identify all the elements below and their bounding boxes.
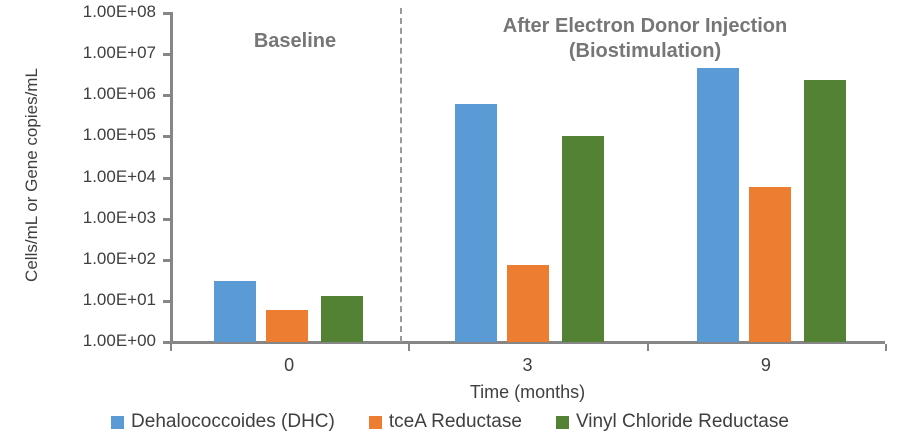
bar-vinyl-chloride-reductase-month-9	[804, 80, 846, 342]
x-axis-tick-mark	[647, 344, 649, 351]
y-axis-tick-mark	[163, 177, 171, 180]
x-axis-tick-mark	[885, 344, 887, 351]
y-axis-tick-mark	[163, 135, 171, 138]
bar-tcea-reductase-month-3	[507, 265, 549, 342]
legend-item[interactable]: Vinyl Chloride Reductase	[556, 411, 789, 433]
bar-dehalococcoides-dhc-month-3	[455, 104, 497, 342]
y-axis-tick-mark	[163, 218, 171, 221]
legend-swatch-icon	[369, 416, 382, 429]
x-axis-tick-label: 9	[706, 355, 826, 376]
chart-legend: Dehalococcoides (DHC)tceA ReductaseVinyl…	[0, 411, 900, 433]
bar-tcea-reductase-month-9	[749, 187, 791, 342]
legend-label: tceA Reductase	[389, 411, 522, 433]
x-axis-title: Time (months)	[170, 382, 885, 403]
legend-swatch-icon	[556, 416, 569, 429]
bar-dehalococcoides-dhc-month-0	[214, 281, 256, 342]
annotation-biostimulation-line1: After Electron Donor Injection	[420, 14, 870, 39]
y-axis-tick-mark	[163, 259, 171, 262]
bar-dehalococcoides-dhc-month-9	[697, 68, 739, 342]
y-axis-tick-mark	[163, 300, 171, 303]
x-axis-tick-label: 0	[229, 355, 349, 376]
legend-label: Vinyl Chloride Reductase	[576, 411, 789, 433]
annotation-biostimulation-line2: (Biostimulation)	[420, 39, 870, 64]
annotation-biostimulation: After Electron Donor Injection (Biostimu…	[420, 14, 870, 64]
y-axis-tick-mark	[163, 12, 171, 15]
y-axis-tick-mark	[163, 94, 171, 97]
legend-swatch-icon	[111, 416, 124, 429]
y-axis-tick-mark	[163, 53, 171, 56]
x-axis-tick-mark	[408, 344, 410, 351]
phase-divider-line	[400, 8, 402, 342]
legend-item[interactable]: Dehalococcoides (DHC)	[111, 411, 335, 433]
bar-vinyl-chloride-reductase-month-3	[562, 136, 604, 342]
bar-tcea-reductase-month-0	[266, 310, 308, 342]
bar-vinyl-chloride-reductase-month-0	[321, 296, 363, 342]
x-axis-tick-label: 3	[468, 355, 588, 376]
legend-item[interactable]: tceA Reductase	[369, 411, 522, 433]
legend-label: Dehalococcoides (DHC)	[131, 411, 335, 433]
annotation-baseline: Baseline	[200, 29, 390, 54]
chart-canvas: Cells/mL or Gene copies/mL 1.00E+081.00E…	[0, 0, 900, 444]
x-axis-tick-mark	[170, 344, 172, 351]
